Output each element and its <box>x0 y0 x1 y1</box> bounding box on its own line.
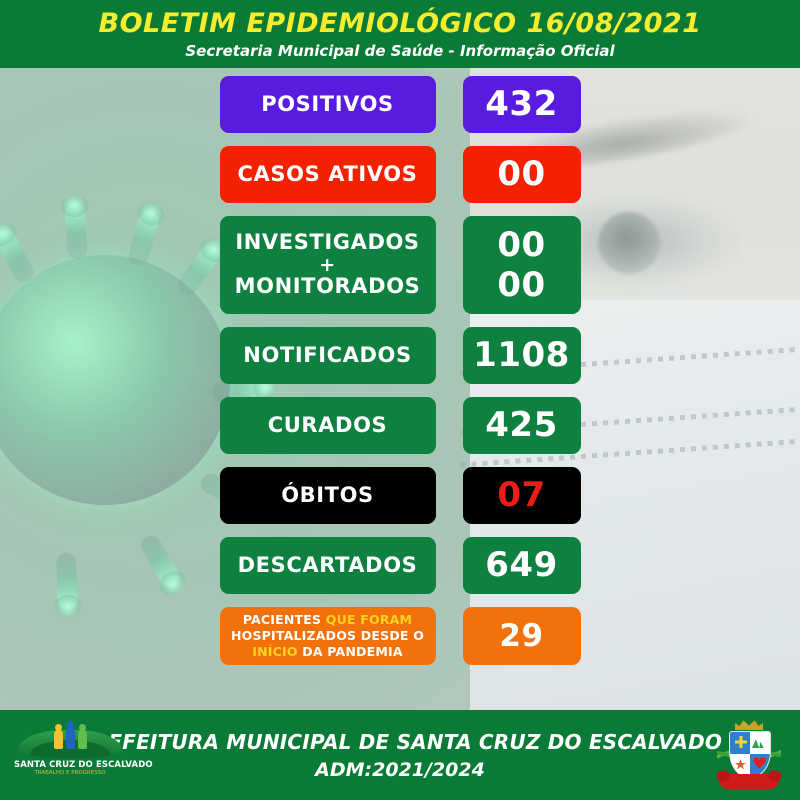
stat-label-curados: CURADOS <box>220 397 436 454</box>
label-plus-sign: + <box>319 255 336 276</box>
shield-shape <box>729 731 771 777</box>
poster-header: BOLETIM EPIDEMIOLÓGICO 16/08/2021 Secret… <box>0 0 800 68</box>
value-investigados: 00 <box>497 226 545 264</box>
stat-label-descartados: DESCARTADOS <box>220 537 436 594</box>
hospitalized-line-2: HOSPITALIZADOS DESDE O <box>231 628 424 644</box>
label-line-investigados: INVESTIGADOS <box>235 231 419 255</box>
stat-label-hospitalizados: PACIENTES QUE FORAM HOSPITALIZADOS DESDE… <box>220 607 436 665</box>
stat-value-casos-ativos: 00 <box>463 146 581 203</box>
poster-footer: SANTA CRUZ DO ESCALVADO TRABALHO E PROGR… <box>0 710 800 800</box>
logo-person-green-icon <box>78 730 87 749</box>
statistics-list: POSITIVOS 432 CASOS ATIVOS 00 INVESTIGAD… <box>0 76 800 678</box>
stat-value-positivos: 432 <box>463 76 581 133</box>
ribbon-banner <box>719 774 779 789</box>
stat-label-notificados: NOTIFICADOS <box>220 327 436 384</box>
stat-row-descartados: DESCARTADOS 649 <box>0 537 800 594</box>
logo-person-blue-icon <box>66 727 75 749</box>
footer-text-block: PREFEITURA MUNICIPAL DE SANTA CRUZ DO ES… <box>78 730 722 781</box>
hospitalized-text-pacientes: PACIENTES <box>243 612 326 627</box>
stat-value-descartados: 649 <box>463 537 581 594</box>
stat-value-notificados: 1108 <box>463 327 581 384</box>
stat-row-hospitalizados: PACIENTES QUE FORAM HOSPITALIZADOS DESDE… <box>0 607 800 665</box>
hospitalized-text-da-pandemia: DA PANDEMIA <box>298 644 403 659</box>
stat-row-obitos: ÓBITOS 07 <box>0 467 800 524</box>
shield-quarter-mountains <box>750 732 770 754</box>
footer-city-hall-name: PREFEITURA MUNICIPAL DE SANTA CRUZ DO ES… <box>78 730 722 754</box>
stat-row-positivos: POSITIVOS 432 <box>0 76 800 133</box>
hospitalized-text-inicio: INÍCIO <box>252 644 297 659</box>
stat-row-casos-ativos: CASOS ATIVOS 00 <box>0 146 800 203</box>
stat-value-obitos: 07 <box>463 467 581 524</box>
city-logo: SANTA CRUZ DO ESCALVADO TRABALHO E PROGR… <box>14 722 126 788</box>
stat-value-investigados-monitorados: 00 00 <box>463 216 581 314</box>
logo-person-yellow-icon <box>54 730 63 749</box>
hospitalized-text-que-foram: QUE FORAM <box>326 612 412 627</box>
cross-icon <box>735 736 747 748</box>
page-title: BOLETIM EPIDEMIOLÓGICO 16/08/2021 <box>0 0 800 39</box>
stat-row-notificados: NOTIFICADOS 1108 <box>0 327 800 384</box>
page-subtitle: Secretaria Municipal de Saúde - Informaç… <box>0 39 800 60</box>
stat-row-curados: CURADOS 425 <box>0 397 800 454</box>
logo-city-name: SANTA CRUZ DO ESCALVADO <box>14 760 126 770</box>
stat-label-casos-ativos: CASOS ATIVOS <box>220 146 436 203</box>
hospitalized-line-1: PACIENTES QUE FORAM <box>243 612 412 628</box>
value-monitorados: 00 <box>497 266 545 304</box>
stat-label-investigados-monitorados: INVESTIGADOS + MONITORADOS <box>220 216 436 314</box>
crown-icon <box>735 719 763 730</box>
stat-label-obitos: ÓBITOS <box>220 467 436 524</box>
hospitalized-line-3: INÍCIO DA PANDEMIA <box>252 644 402 660</box>
coat-of-arms <box>716 718 782 792</box>
stat-value-curados: 425 <box>463 397 581 454</box>
footer-administration-term: ADM:2021/2024 <box>78 754 722 781</box>
stat-label-positivos: POSITIVOS <box>220 76 436 133</box>
label-line-monitorados: MONITORADOS <box>235 275 421 299</box>
logo-motto: TRABALHO E PROGRESSO <box>14 770 126 776</box>
stat-value-hospitalizados: 29 <box>463 607 581 665</box>
epidemiological-bulletin-poster: BOLETIM EPIDEMIOLÓGICO 16/08/2021 Secret… <box>0 0 800 800</box>
stat-row-investigados-monitorados: INVESTIGADOS + MONITORADOS 00 00 <box>0 216 800 314</box>
